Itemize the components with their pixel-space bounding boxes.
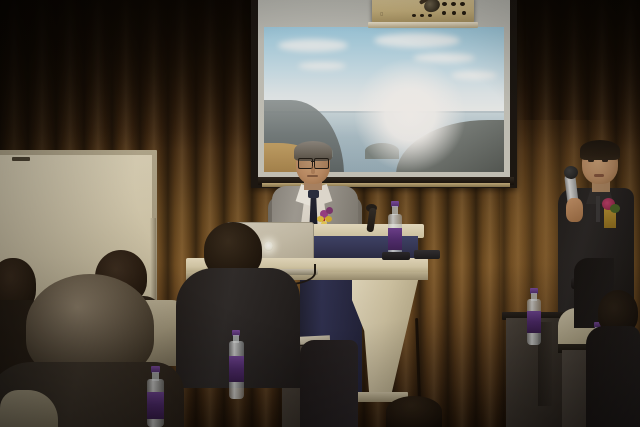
- apple-logo-icon: [264, 241, 273, 251]
- eyeglasses-icon: [314, 158, 329, 169]
- eyeglasses-bridge: [311, 161, 314, 162]
- projected-cloud: [298, 62, 346, 70]
- projector-vent: [428, 14, 432, 17]
- bottle-label: [147, 392, 164, 419]
- projected-cloud: [374, 33, 460, 48]
- bottle-label: [527, 311, 541, 333]
- speaker-nose: [311, 166, 315, 174]
- projected-sun-glow: [355, 59, 465, 171]
- whiteboard-clip: [12, 157, 30, 161]
- flower-badge-leaf: [610, 204, 620, 213]
- projector-lens-icon: [422, 0, 441, 14]
- boutonniere-petal: [326, 207, 333, 214]
- mic-man-mouth: [594, 174, 604, 177]
- speaker-mouth: [307, 175, 318, 177]
- projector-body: ◻: [372, 0, 474, 23]
- seated-person-body: [586, 326, 640, 427]
- mic-man-eye: [588, 159, 594, 162]
- mic-man-hand: [566, 198, 583, 222]
- projector-vent: [451, 2, 456, 6]
- audience-member-silhouette: [300, 340, 358, 427]
- projector-vent: [442, 11, 446, 15]
- projected-cloud: [278, 39, 348, 52]
- projector-base-plate: [368, 22, 478, 28]
- projector-vent: [460, 2, 465, 6]
- lectern-equipment: [414, 250, 440, 259]
- projector-vent: [462, 11, 466, 15]
- projector-vent: [442, 2, 447, 6]
- lectern-equipment: [382, 252, 410, 260]
- mic-man-placket: [596, 196, 600, 222]
- mic-man-hair: [580, 140, 620, 160]
- photo-scene: ◻: [0, 0, 640, 427]
- projector-vent: [412, 14, 416, 17]
- audience-head: [386, 396, 442, 427]
- mic-man-eye: [602, 159, 608, 162]
- projector-vent: [420, 14, 424, 17]
- bottle-label: [388, 228, 402, 250]
- projector-brand-mark: ◻: [380, 11, 384, 16]
- speaker-tie-knot: [308, 190, 319, 198]
- projector-vent: [452, 11, 456, 15]
- bottle-label: [229, 356, 244, 382]
